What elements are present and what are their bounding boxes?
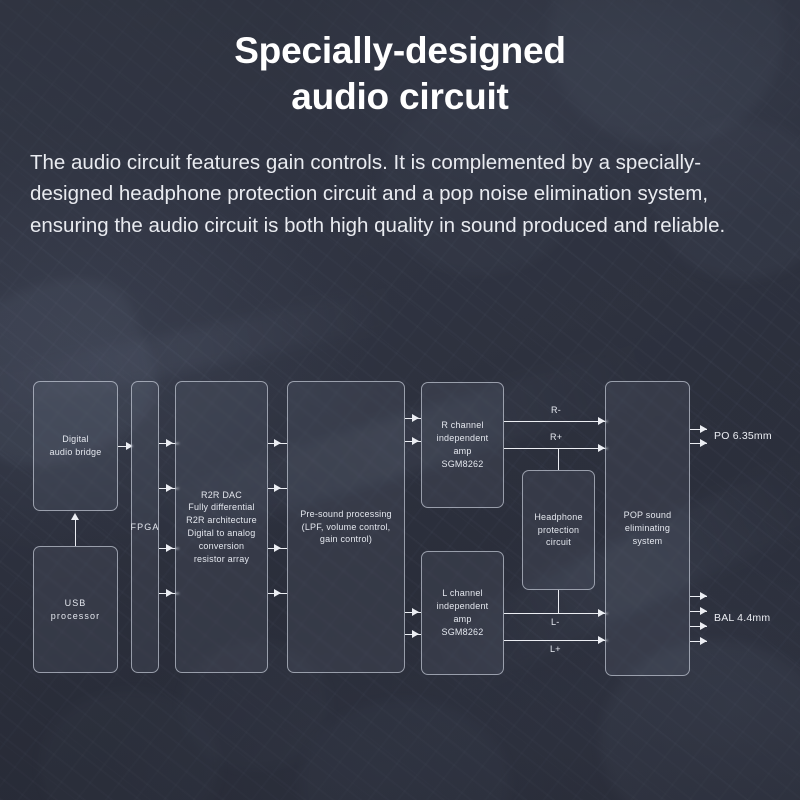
arrowhead-dac-to-presound-1 — [274, 439, 281, 447]
arrowhead-output-bal-2 — [700, 607, 707, 615]
header: Specially-designed audio circuit The aud… — [0, 0, 800, 242]
wire-l-minus — [504, 613, 608, 614]
node-pop-sound-eliminating-system[interactable]: POP sound eliminating system — [605, 381, 690, 676]
arrowhead-output-bal-4 — [700, 637, 707, 645]
arrowhead-l-plus — [598, 636, 605, 644]
arrowhead-dac-to-presound-2 — [274, 484, 281, 492]
arrowhead-r-plus — [598, 444, 605, 452]
node-headphone-protection-circuit[interactable]: Headphone protection circuit — [522, 470, 595, 590]
node-label: Headphone protection circuit — [528, 511, 589, 549]
page-title: Specially-designed audio circuit — [30, 28, 770, 121]
wire-l-plus — [504, 640, 608, 641]
arrowhead-fpga-to-dac-2 — [166, 484, 173, 492]
node-fpga[interactable]: FPGA — [131, 381, 159, 673]
node-r-channel-amp[interactable]: R channel independent amp SGM8262 — [421, 382, 504, 508]
signal-label-r-plus: R+ — [550, 432, 562, 442]
node-label: R channel independent amp SGM8262 — [427, 419, 498, 470]
arrowhead-presound-to-rchannel-1 — [412, 414, 419, 422]
output-label-po: PO 6.35mm — [714, 430, 772, 442]
wire-usb-to-bridge — [75, 519, 76, 546]
arrowhead-presound-to-lchannel-1 — [412, 608, 419, 616]
node-l-channel-amp[interactable]: L channel independent amp SGM8262 — [421, 551, 504, 675]
slide-root: Specially-designed audio circuit The aud… — [0, 0, 800, 800]
node-label: Pre-sound processing (LPF, volume contro… — [300, 508, 392, 546]
wire-rplus-to-headphone-protection — [558, 448, 559, 470]
node-label: USB processor — [39, 597, 112, 623]
arrowhead-output-bal-3 — [700, 622, 707, 630]
node-label: Digital audio bridge — [50, 433, 102, 459]
page-title-line-2: audio circuit — [291, 76, 508, 117]
arrowhead-output-po-2 — [700, 439, 707, 447]
arrowhead-l-minus — [598, 609, 605, 617]
arrowhead-presound-to-rchannel-2 — [412, 437, 419, 445]
node-usb-processor[interactable]: USB processor — [33, 546, 118, 673]
node-digital-audio-bridge[interactable]: Digital audio bridge — [33, 381, 118, 511]
wire-headphone-protection-to-lminus — [558, 590, 559, 613]
arrowhead-fpga-to-dac-3 — [166, 544, 173, 552]
arrowhead-up-usb-to-bridge — [71, 513, 79, 520]
signal-label-l-minus: L- — [551, 617, 559, 627]
page-description: The audio circuit features gain controls… — [30, 147, 770, 243]
page-title-line-1: Specially-designed — [234, 30, 566, 71]
arrowhead-output-bal-1 — [700, 592, 707, 600]
arrowhead-output-po-1 — [700, 425, 707, 433]
arrowhead-presound-to-lchannel-2 — [412, 630, 419, 638]
arrowhead-dac-to-presound-4 — [274, 589, 281, 597]
arrowhead-fpga-to-dac-4 — [166, 589, 173, 597]
wire-r-plus — [504, 448, 608, 449]
node-label: L channel independent amp SGM8262 — [427, 587, 498, 638]
output-label-bal: BAL 4.4mm — [714, 612, 770, 624]
node-pre-sound-processing[interactable]: Pre-sound processing (LPF, volume contro… — [287, 381, 405, 673]
node-label: POP sound eliminating system — [624, 509, 672, 547]
node-label: R2R DAC Fully differential R2R architect… — [186, 489, 257, 566]
arrowhead-r-minus — [598, 417, 605, 425]
arrowhead-dac-to-presound-3 — [274, 544, 281, 552]
arrowhead-fpga-to-dac-1 — [166, 439, 173, 447]
signal-label-r-minus: R- — [551, 405, 561, 415]
node-label: FPGA — [131, 521, 160, 534]
node-r2r-dac[interactable]: R2R DAC Fully differential R2R architect… — [175, 381, 268, 673]
signal-label-l-plus: L+ — [550, 644, 561, 654]
wire-r-minus — [504, 421, 608, 422]
